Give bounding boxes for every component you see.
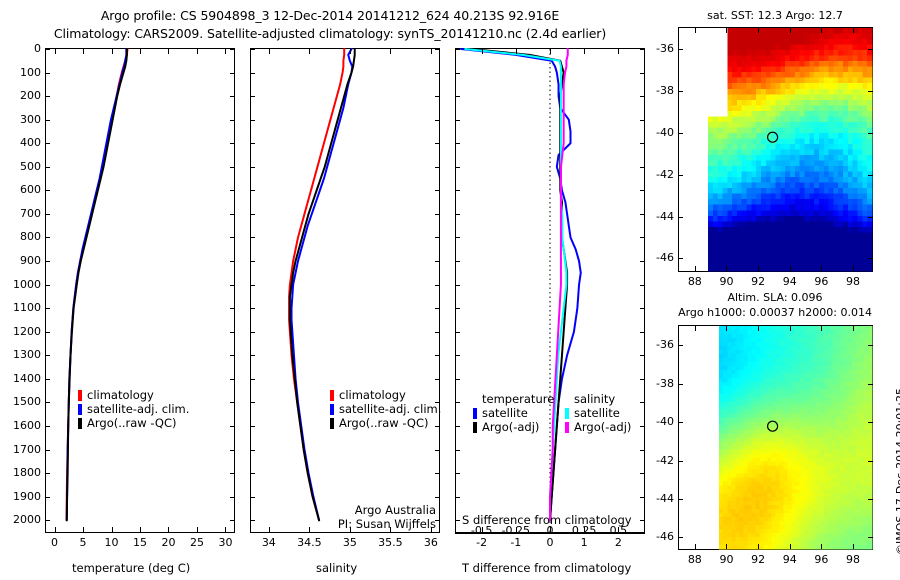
depth-tick-label: 1900 [3, 490, 41, 503]
depth-tick [230, 402, 235, 403]
x-axis-tick [55, 527, 56, 532]
depth-tick [640, 285, 645, 286]
depth-tick [435, 379, 440, 380]
depth-tick [230, 237, 235, 238]
depth-tick [455, 379, 460, 380]
map-lat-tick-label: -36 [646, 338, 674, 351]
depth-tick [230, 332, 235, 333]
depth-tick [435, 49, 440, 50]
x-axis-tick [584, 49, 585, 54]
x-axis-tick [225, 49, 226, 54]
attribution-line: Argo Australia [250, 503, 436, 517]
map-lat-tick [678, 499, 683, 500]
depth-tick-label: 1000 [3, 278, 41, 291]
x-axis-tick [550, 49, 551, 54]
map-lat-tick-label: -36 [646, 42, 674, 55]
depth-tick [435, 473, 440, 474]
depth-tick [45, 285, 50, 286]
depth-tick [230, 473, 235, 474]
depth-tick [250, 473, 255, 474]
legend-label: Argo(-adj) [574, 420, 631, 434]
legend-label: climatology [339, 388, 406, 402]
map-lon-tick [758, 28, 759, 33]
x-axis-tick [197, 527, 198, 532]
depth-tick-label: 200 [3, 89, 41, 102]
map-lat-tick [868, 175, 873, 176]
legend-item: satellite-adj. clim. [330, 402, 441, 416]
depth-tick-label: 800 [3, 230, 41, 243]
depth-tick [250, 402, 255, 403]
depth-tick [435, 143, 440, 144]
map-lon-tick [821, 28, 822, 33]
legend-item: Argo(-adj) [565, 420, 631, 434]
map-lat-tick [868, 499, 873, 500]
depth-tick-label: 500 [3, 160, 41, 173]
difference-plot-area [456, 49, 644, 532]
x-axis-tick [482, 49, 483, 54]
map-lon-tick [853, 326, 854, 331]
depth-tick [230, 497, 235, 498]
depth-tick [230, 167, 235, 168]
map-lon-tick-label: 98 [833, 553, 873, 566]
salinity-axis-title: salinity [316, 561, 357, 575]
sla-map-title-line1: Altim. SLA: 0.096 [675, 291, 875, 304]
page-title-line1: Argo profile: CS 5904898_3 12-Dec-2014 2… [0, 8, 660, 23]
x-axis-tick [350, 49, 351, 54]
depth-tick [230, 285, 235, 286]
depth-tick-label: 1400 [3, 372, 41, 385]
depth-tick [250, 49, 255, 50]
depth-tick [45, 190, 50, 191]
x-axis-tick [112, 527, 113, 532]
attribution-line: PI: Susan Wijffels [250, 517, 436, 531]
legend-item: Argo(..raw -QC) [78, 416, 189, 430]
depth-tick-label: 1300 [3, 348, 41, 361]
depth-tick [45, 450, 50, 451]
map-lat-tick-label: -44 [646, 210, 674, 223]
x-axis-tick [431, 49, 432, 54]
depth-tick [640, 473, 645, 474]
depth-tick [640, 520, 645, 521]
depth-tick [250, 237, 255, 238]
depth-tick [455, 214, 460, 215]
map-lon-tick [758, 544, 759, 549]
depth-tick [640, 190, 645, 191]
map-lon-tick [853, 28, 854, 33]
depth-tick [640, 237, 645, 238]
depth-tick [250, 379, 255, 380]
legend-header: temperature [473, 392, 554, 406]
depth-tick [455, 237, 460, 238]
salinity-legend: climatologysatellite-adj. clim.Argo(..ra… [330, 388, 441, 430]
depth-tick [250, 96, 255, 97]
map-lat-tick [868, 537, 873, 538]
x-axis-tick [112, 49, 113, 54]
depth-tick [640, 96, 645, 97]
map-lat-tick-label: -38 [646, 84, 674, 97]
depth-tick-label: 100 [3, 66, 41, 79]
depth-tick [230, 120, 235, 121]
depth-tick [230, 426, 235, 427]
salinity-plot-area [251, 49, 439, 532]
map-lon-tick-label: 98 [833, 275, 873, 288]
legend-label: Argo(..raw -QC) [339, 416, 429, 430]
depth-tick [250, 214, 255, 215]
depth-tick [455, 120, 460, 121]
legend-label: satellite-adj. clim. [339, 402, 441, 416]
depth-tick [250, 120, 255, 121]
depth-tick [230, 49, 235, 50]
depth-tick [435, 237, 440, 238]
map-lat-tick-label: -44 [646, 492, 674, 505]
legend-color-swatch [473, 408, 477, 419]
map-lon-tick [726, 326, 727, 331]
depth-tick [640, 450, 645, 451]
legend-color-swatch [330, 404, 334, 415]
map-lon-tick [853, 544, 854, 549]
depth-tick [640, 167, 645, 168]
depth-tick [435, 214, 440, 215]
map-lat-tick-label: -40 [646, 126, 674, 139]
map-lat-tick [868, 461, 873, 462]
map-lat-tick [868, 258, 873, 259]
legend-item: satellite [565, 406, 631, 420]
depth-tick [45, 332, 50, 333]
x-axis-tick [83, 527, 84, 532]
depth-tick [455, 96, 460, 97]
depth-tick [435, 167, 440, 168]
depth-tick-label: 1700 [3, 443, 41, 456]
map-lon-tick [726, 266, 727, 271]
legend-label: Argo(..raw -QC) [87, 416, 177, 430]
sla-map-title-line2: Argo h1000: 0.00037 h2000: 0.014 [655, 306, 895, 319]
map-lat-tick [868, 49, 873, 50]
legend-label: satellite [482, 406, 528, 420]
depth-tick [640, 120, 645, 121]
depth-tick [435, 308, 440, 309]
depth-tick [640, 49, 645, 50]
map-lat-tick-label: -42 [646, 168, 674, 181]
map-lat-tick [868, 217, 873, 218]
map-lat-tick-label: -38 [646, 377, 674, 390]
depth-tick [230, 73, 235, 74]
legend-item: satellite-adj. clim. [78, 402, 189, 416]
depth-tick [435, 285, 440, 286]
map-lat-tick [678, 49, 683, 50]
depth-tick [250, 308, 255, 309]
temperature-plot-area [46, 49, 234, 532]
legend-label: satellite [574, 406, 620, 420]
depth-tick [455, 190, 460, 191]
temperature-legend: climatologysatellite-adj. clim.Argo(..ra… [78, 388, 189, 430]
depth-tick [250, 450, 255, 451]
map-lon-tick [821, 544, 822, 549]
page-title-line2: Climatology: CARS2009. Satellite-adjuste… [0, 26, 660, 41]
map-lon-tick [790, 544, 791, 549]
depth-tick [640, 73, 645, 74]
map-lat-tick [868, 133, 873, 134]
depth-tick [250, 285, 255, 286]
depth-tick-label: 1200 [3, 325, 41, 338]
difference-legend-temperature: temperaturesatelliteArgo(-adj) [473, 392, 554, 434]
imos-credit: ©IMOS 17-Dec-2014 20:01:25 [894, 388, 900, 555]
x-axis-tick [83, 49, 84, 54]
map-lon-tick [695, 266, 696, 271]
map-lon-tick [726, 544, 727, 549]
depth-tick [435, 190, 440, 191]
depth-tick [250, 143, 255, 144]
legend-label: climatology [87, 388, 154, 402]
depth-tick [230, 355, 235, 356]
depth-tick [455, 426, 460, 427]
depth-tick [230, 190, 235, 191]
map-lat-tick [678, 345, 683, 346]
map-lat-tick [868, 422, 873, 423]
map-lon-tick [758, 326, 759, 331]
depth-tick [45, 261, 50, 262]
depth-tick [435, 497, 440, 498]
depth-tick [455, 497, 460, 498]
legend-color-swatch [78, 404, 82, 415]
x-axis-tick [168, 49, 169, 54]
depth-tick [45, 473, 50, 474]
map-lon-tick [790, 326, 791, 331]
depth-tick [435, 355, 440, 356]
depth-tick [455, 450, 460, 451]
depth-tick [45, 520, 50, 521]
depth-tick [230, 96, 235, 97]
depth-tick-label: 0 [3, 42, 41, 55]
x-axis-tick [309, 49, 310, 54]
depth-tick [45, 497, 50, 498]
depth-tick [45, 96, 50, 97]
depth-tick [640, 426, 645, 427]
depth-tick [45, 426, 50, 427]
depth-tick [640, 497, 645, 498]
depth-tick-label: 300 [3, 113, 41, 126]
map-lat-tick [678, 461, 683, 462]
x-axis-tick [618, 49, 619, 54]
depth-tick-label: 2000 [3, 513, 41, 526]
legend-item: climatology [330, 388, 441, 402]
depth-tick [455, 355, 460, 356]
x-axis-tick [269, 49, 270, 54]
depth-tick [455, 308, 460, 309]
legend-color-swatch [330, 418, 334, 429]
legend-header: salinity [565, 392, 631, 406]
map-lon-tick [790, 266, 791, 271]
temperature-axis-title: temperature (deg C) [72, 561, 190, 575]
map-lon-tick [821, 266, 822, 271]
depth-tick [455, 143, 460, 144]
depth-tick [230, 214, 235, 215]
depth-tick [640, 332, 645, 333]
depth-tick [250, 190, 255, 191]
depth-tick-label: 600 [3, 183, 41, 196]
depth-tick [45, 143, 50, 144]
map-lat-tick [678, 258, 683, 259]
salinity-difference-axis-title: S difference from climatology [462, 513, 632, 527]
depth-tick [45, 355, 50, 356]
map-lon-tick [790, 28, 791, 33]
depth-tick [45, 73, 50, 74]
depth-tick [230, 143, 235, 144]
legend-item: satellite [473, 406, 554, 420]
map-lon-tick [695, 28, 696, 33]
depth-tick [435, 120, 440, 121]
depth-tick [455, 73, 460, 74]
sst-map-title: sat. SST: 12.3 Argo: 12.7 [675, 9, 875, 22]
depth-tick-label: 1800 [3, 466, 41, 479]
x-axis-tick [197, 49, 198, 54]
x-axis-tick-label: 2 [588, 536, 648, 549]
map-lat-tick [678, 133, 683, 134]
depth-tick [45, 402, 50, 403]
depth-tick [640, 308, 645, 309]
map-lat-tick [678, 91, 683, 92]
legend-color-swatch [330, 390, 334, 401]
legend-color-swatch [565, 422, 569, 433]
depth-tick [45, 167, 50, 168]
depth-tick [455, 261, 460, 262]
map-lat-tick-label: -42 [646, 454, 674, 467]
depth-tick [45, 49, 50, 50]
map-lat-tick-label: -40 [646, 415, 674, 428]
depth-tick [640, 379, 645, 380]
depth-tick-label: 1500 [3, 395, 41, 408]
sst-map-image [679, 28, 872, 271]
depth-tick [45, 214, 50, 215]
depth-tick [640, 261, 645, 262]
depth-tick [230, 261, 235, 262]
map-lat-tick [868, 384, 873, 385]
depth-tick-label: 1600 [3, 419, 41, 432]
map-lat-tick [678, 175, 683, 176]
x-axis-tick [168, 527, 169, 532]
depth-tick [250, 332, 255, 333]
depth-tick-label: 900 [3, 254, 41, 267]
temperature-difference-axis-title: T difference from climatology [462, 561, 631, 575]
depth-tick-label: 400 [3, 136, 41, 149]
map-lat-tick [868, 91, 873, 92]
depth-tick [250, 261, 255, 262]
sla-map-image [679, 326, 872, 549]
depth-tick [455, 49, 460, 50]
depth-tick [250, 355, 255, 356]
depth-tick [455, 332, 460, 333]
legend-color-swatch [78, 418, 82, 429]
map-lat-tick [678, 217, 683, 218]
depth-tick [250, 497, 255, 498]
map-lon-tick [726, 28, 727, 33]
depth-tick [455, 520, 460, 521]
depth-tick [45, 308, 50, 309]
depth-tick [640, 214, 645, 215]
legend-item: Argo(-adj) [473, 420, 554, 434]
depth-tick [250, 73, 255, 74]
depth-tick [435, 332, 440, 333]
depth-tick [455, 167, 460, 168]
depth-tick [435, 261, 440, 262]
legend-color-swatch [565, 408, 569, 419]
map-lat-tick [678, 537, 683, 538]
depth-tick-label: 1100 [3, 301, 41, 314]
map-lat-tick-label: -46 [646, 530, 674, 543]
x-axis-tick [55, 49, 56, 54]
x-axis-tick [140, 527, 141, 532]
map-lat-tick-label: -46 [646, 251, 674, 264]
x-axis-tick [516, 49, 517, 54]
x-axis-tick [225, 527, 226, 532]
depth-tick [230, 379, 235, 380]
argo-attribution: Argo AustraliaPI: Susan Wijffels [250, 503, 436, 531]
difference-legend-salinity: salinitysatelliteArgo(-adj) [565, 392, 631, 434]
depth-tick [250, 426, 255, 427]
x-axis-tick [390, 49, 391, 54]
depth-tick [455, 473, 460, 474]
map-lon-tick [695, 326, 696, 331]
depth-tick [455, 402, 460, 403]
depth-tick [640, 355, 645, 356]
depth-tick [250, 167, 255, 168]
depth-tick [435, 73, 440, 74]
legend-label: satellite-adj. clim. [87, 402, 189, 416]
depth-tick-label: 700 [3, 207, 41, 220]
map-lon-tick [695, 544, 696, 549]
map-lon-tick [758, 266, 759, 271]
depth-tick [230, 450, 235, 451]
depth-tick [45, 237, 50, 238]
map-lat-tick [678, 422, 683, 423]
depth-tick [230, 520, 235, 521]
depth-tick [435, 96, 440, 97]
depth-tick [435, 450, 440, 451]
legend-item: Argo(..raw -QC) [330, 416, 441, 430]
legend-item: climatology [78, 388, 189, 402]
depth-tick [45, 120, 50, 121]
depth-tick [230, 308, 235, 309]
map-lon-tick [853, 266, 854, 271]
map-lon-tick [821, 326, 822, 331]
map-lat-tick [678, 384, 683, 385]
depth-tick [455, 285, 460, 286]
depth-tick [45, 379, 50, 380]
x-axis-tick [140, 49, 141, 54]
legend-color-swatch [473, 422, 477, 433]
legend-color-swatch [78, 390, 82, 401]
map-lat-tick [868, 345, 873, 346]
depth-tick [640, 402, 645, 403]
depth-tick [640, 143, 645, 144]
legend-label: Argo(-adj) [482, 420, 539, 434]
